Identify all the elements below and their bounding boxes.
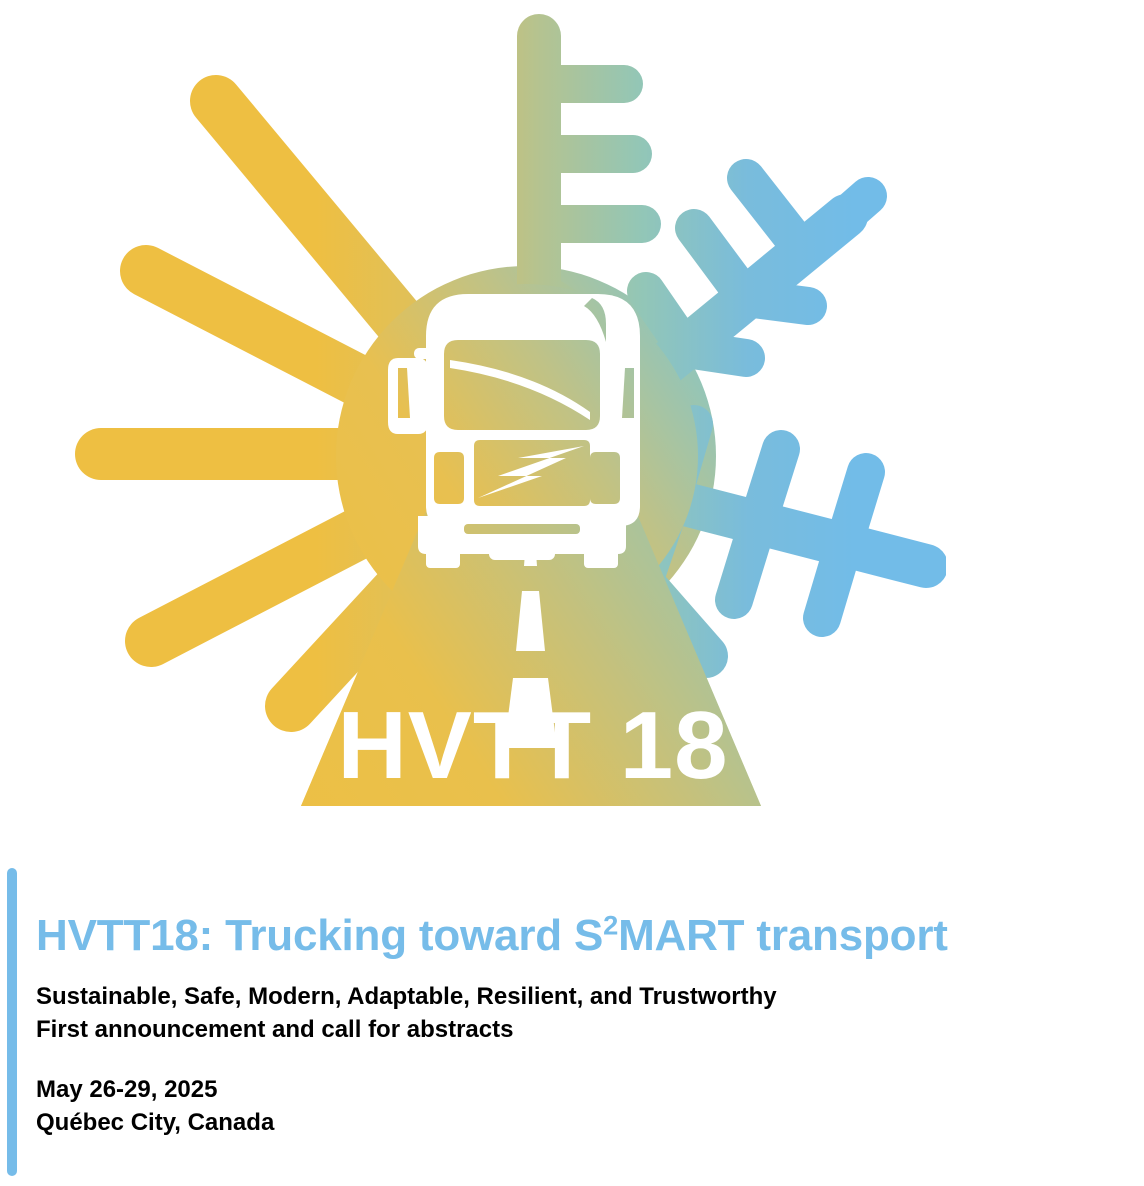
- conference-logo-block: HVTT 18: [0, 0, 1144, 856]
- page-title-prefix: HVTT18: Trucking toward S: [36, 911, 603, 960]
- event-date: May 26-29, 2025: [36, 1078, 217, 1102]
- hvtt18-logo-graphic: HVTT 18: [46, 6, 946, 846]
- event-location: Québec City, Canada: [36, 1111, 274, 1135]
- logo-wordmark: HVTT 18: [337, 692, 728, 799]
- page-title: HVTT18: Trucking toward S2MART transport: [36, 914, 948, 958]
- announcement-text-block: HVTT18: Trucking toward S2MART transport…: [0, 856, 1144, 1186]
- accent-bar: [7, 868, 17, 1176]
- subtitle-themes: Sustainable, Safe, Modern, Adaptable, Re…: [36, 985, 777, 1009]
- page-title-superscript: 2: [603, 909, 618, 940]
- subtitle-announcement: First announcement and call for abstract…: [36, 1018, 513, 1042]
- page-title-suffix: MART transport: [618, 911, 948, 960]
